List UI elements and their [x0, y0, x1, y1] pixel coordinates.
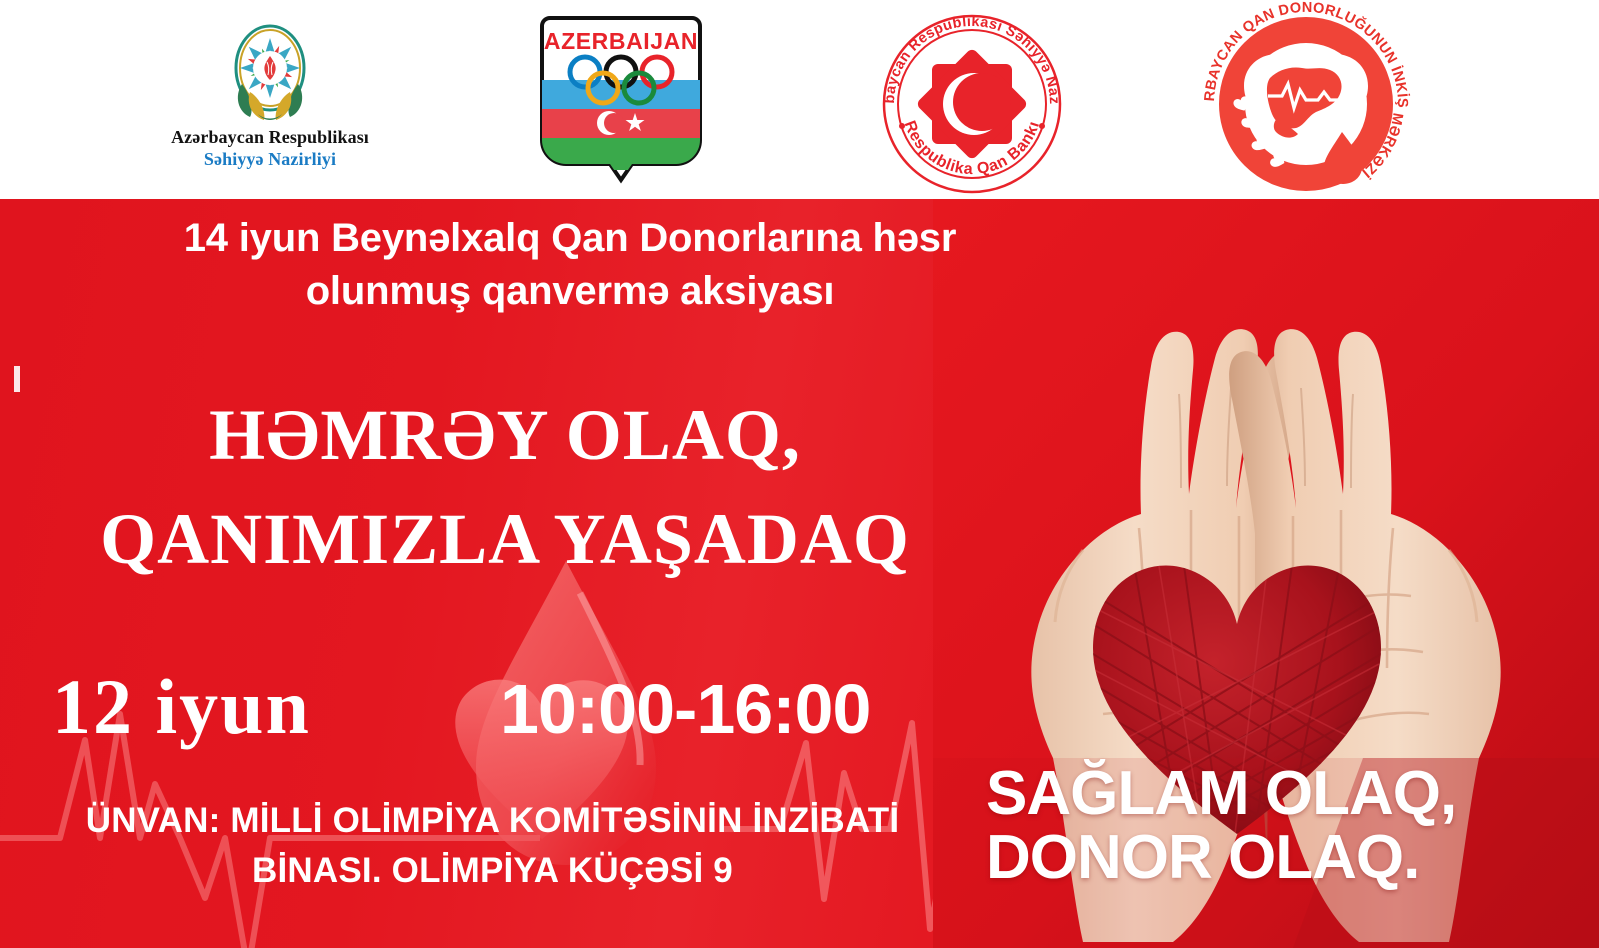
- address-line1: ÜNVAN: MİLLİ OLİMPİYA KOMİTƏSİNİN İNZİBA…: [0, 796, 985, 846]
- moh-line1: Azərbaycan Respublikası: [150, 128, 390, 148]
- blood-donation-development-centre-logo: AZƏRBAYCAN QAN DONORLUĞUNUN İNKİŞAFI MƏR…: [1198, 0, 1414, 196]
- event-time: 10:00-16:00: [500, 674, 870, 744]
- azerbaijan-ministry-of-health-logo: Azərbaycan Respublikası Səhiyyə Nazirliy…: [150, 22, 390, 177]
- moh-line2: Səhiyyə Nazirliyi: [150, 148, 390, 171]
- event-date: 12 iyun: [52, 668, 311, 746]
- blood-bank-seal-icon: Azərbaycan Respublikası Səhiyyə Nazirliy…: [872, 4, 1072, 196]
- headline-line1: 14 iyun Beynəlxalq Qan Donorlarına həsr: [0, 212, 1140, 265]
- slogan-line2: QANIMIZLA YAŞADAQ: [0, 502, 1010, 578]
- republic-blood-bank-seal: Azərbaycan Respublikası Səhiyyə Nazirliy…: [872, 4, 1072, 196]
- poster-headline: 14 iyun Beynəlxalq Qan Donorlarına həsr …: [0, 212, 1140, 318]
- slogan-line1: HƏMRƏY OLAQ,: [0, 398, 1010, 474]
- azerbaijan-national-olympic-committee-logo: AZERBAIJAN: [528, 8, 714, 198]
- donor-centre-icon: AZƏRBAYCAN QAN DONORLUĞUNUN İNKİŞAFI MƏR…: [1198, 0, 1414, 196]
- noc-title: AZERBAIJAN: [528, 28, 714, 55]
- photo-slogan: SAĞLAM OLAQ, DONOR OLAQ.: [986, 762, 1586, 891]
- poster-slogan: HƏMRƏY OLAQ, QANIMIZLA YAŞADAQ: [0, 398, 1010, 577]
- blood-donation-poster: Azərbaycan Respublikası Səhiyyə Nazirliy…: [0, 0, 1599, 948]
- azerbaijan-coat-of-arms-icon: [150, 22, 390, 126]
- headline-line2: olunmuş qanvermə aksiyası: [0, 265, 1140, 318]
- poster-copy: 14 iyun Beynəlxalq Qan Donorlarına həsr …: [0, 198, 980, 948]
- photo-slogan-line2: DONOR OLAQ.: [986, 826, 1586, 890]
- photo-slogan-line1: SAĞLAM OLAQ,: [986, 762, 1586, 826]
- event-when: 12 iyun 10:00-16:00: [0, 668, 980, 778]
- event-address: ÜNVAN: MİLLİ OLİMPİYA KOMİTƏSİNİN İNZİBA…: [0, 796, 985, 895]
- logo-band: Azərbaycan Respublikası Səhiyyə Nazirliy…: [0, 0, 1599, 199]
- address-line2: BİNASI. OLİMPİYA KÜÇƏSİ 9: [0, 846, 985, 896]
